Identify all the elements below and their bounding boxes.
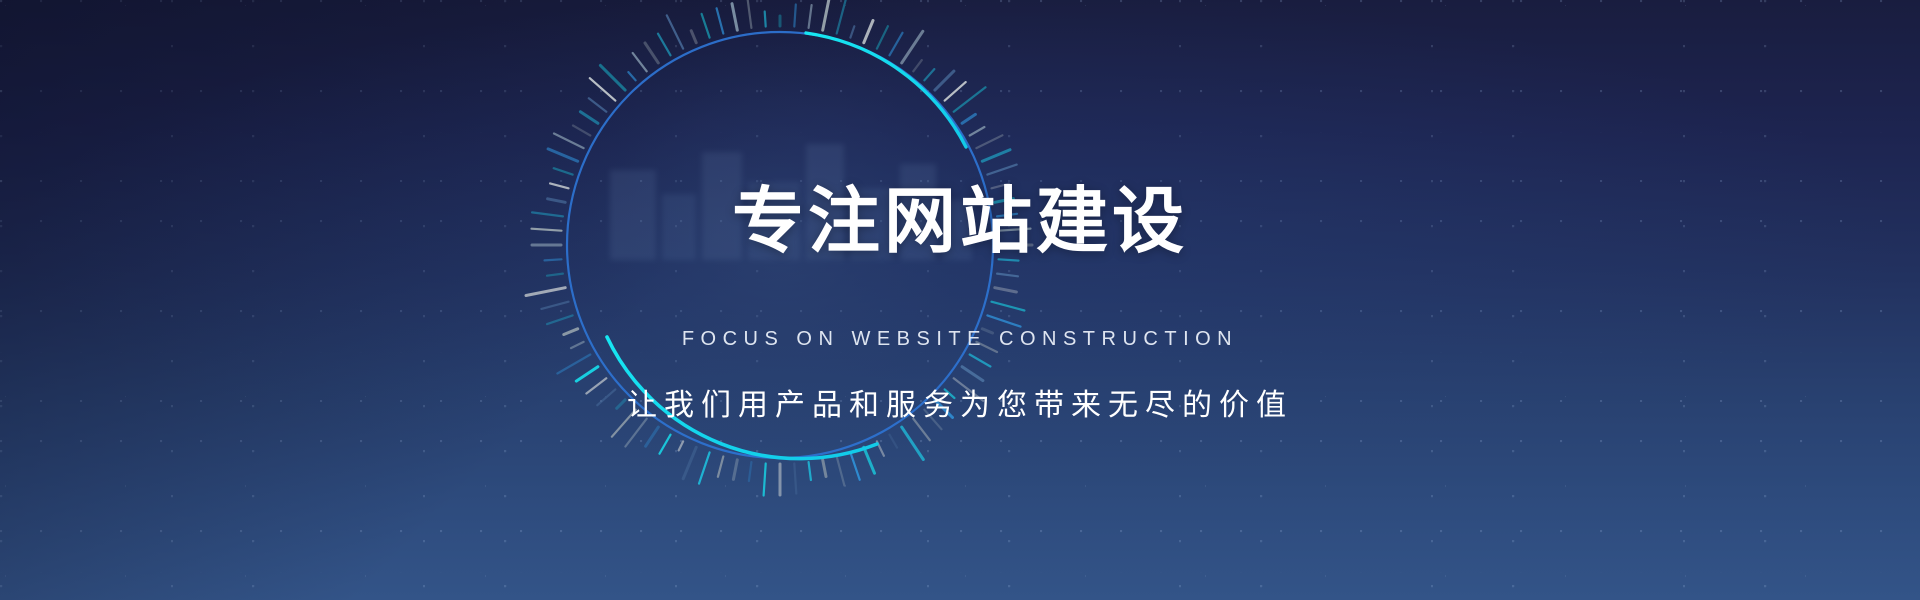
ring-tick <box>547 315 573 324</box>
ring-tick <box>987 315 1020 326</box>
ring-tick <box>864 447 875 473</box>
ring-tick <box>794 5 796 27</box>
ring-tick <box>809 5 812 28</box>
ring-tick <box>877 441 884 455</box>
page-title: 专注网站建设 <box>0 186 1920 258</box>
background-vignette <box>0 0 1920 600</box>
ring-tick <box>691 31 696 43</box>
ring-tick <box>645 43 658 63</box>
ring-tick <box>580 112 598 124</box>
ring-tick <box>749 462 752 481</box>
ring-tick <box>660 435 671 454</box>
ring-tick <box>850 26 854 37</box>
tagline: 让我们用产品和服务为您带来无尽的价值 <box>0 380 1920 424</box>
ring-tick <box>541 302 568 309</box>
ring-tick <box>945 82 966 101</box>
ring-tick <box>997 274 1018 277</box>
ring-tick <box>633 53 647 71</box>
ring-tick <box>590 78 616 100</box>
ring-tick <box>545 259 562 260</box>
ring-tick <box>702 14 710 38</box>
ring-tick <box>962 114 975 123</box>
ring-tick <box>576 367 598 381</box>
ring-tick <box>589 98 607 111</box>
ring-tick <box>970 127 985 136</box>
ring-tick <box>548 149 578 161</box>
ring-tick <box>913 60 922 71</box>
ring-tick <box>683 447 696 478</box>
ring-tick <box>954 87 986 111</box>
ring-tick <box>995 288 1017 292</box>
ring-tick <box>962 367 983 381</box>
ring-tick <box>890 435 898 448</box>
ring-tick <box>557 355 590 374</box>
ring-highlight-arc-top <box>806 33 966 147</box>
ring-tick <box>976 135 1002 148</box>
subtitle-english: FOCUS ON WEBSITE CONSTRUCTION <box>0 328 1920 351</box>
ring-tick <box>890 33 903 56</box>
ring-tick <box>902 427 924 459</box>
hero-banner: 专注网站建设 FOCUS ON WEBSITE CONSTRUCTION 让我们… <box>0 0 1920 600</box>
ring-tick <box>823 0 830 30</box>
ring-tick <box>717 8 724 33</box>
dot-grid-pattern <box>0 0 1920 600</box>
ring-tick <box>935 71 954 90</box>
ring-tick <box>526 288 565 296</box>
ring-tick <box>837 0 846 33</box>
ring-tick <box>746 0 751 28</box>
ring-tick <box>600 65 625 90</box>
ring-tick <box>628 72 635 80</box>
ring-tick <box>902 31 923 63</box>
ring-tick <box>547 274 563 276</box>
ring-tick <box>667 15 683 48</box>
ring-tick <box>823 460 826 477</box>
dot-grid-pattern-secondary <box>0 0 1920 600</box>
ring-tick <box>718 457 723 477</box>
ring-tick <box>924 69 934 80</box>
ring-tick <box>809 462 811 480</box>
ring-tick <box>970 355 991 367</box>
ring-tick <box>679 441 683 450</box>
ring-tick <box>864 21 873 43</box>
ring-tick <box>646 427 659 446</box>
ring-tick <box>765 12 766 27</box>
ring-tick <box>850 452 859 479</box>
ring-tick <box>992 302 1025 311</box>
ring-tick <box>794 464 796 494</box>
ring-tick <box>732 4 737 31</box>
ring-tick <box>699 452 710 483</box>
ring-tick <box>764 464 766 496</box>
ring-tick <box>982 150 1010 162</box>
ring-tick <box>573 126 590 136</box>
ring-tick <box>554 134 584 149</box>
ring-tick <box>733 460 737 480</box>
ring-graphic <box>0 0 1920 600</box>
ring-tick <box>554 168 573 174</box>
ring-tick <box>658 34 671 56</box>
ring-tick <box>987 165 1016 175</box>
ring-tick <box>877 26 888 48</box>
ring-tick <box>837 457 845 486</box>
